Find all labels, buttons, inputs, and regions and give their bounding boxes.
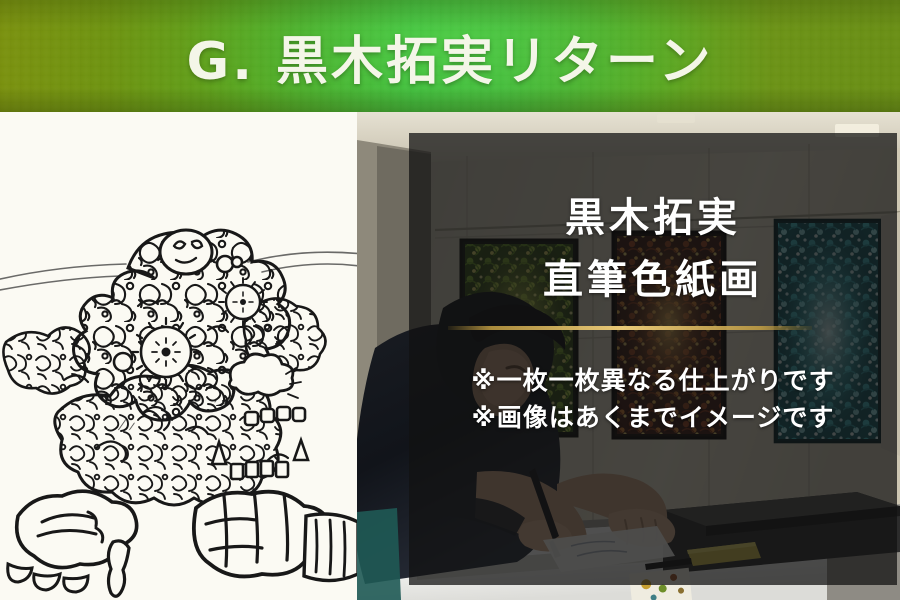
page-title: G. 黒木拓実リターン — [0, 0, 900, 112]
gallery-photo-panel: 黒木拓実 直筆色紙画 ※一枚一枚異なる仕上がりです ※画像はあくまでイメージです — [357, 112, 900, 600]
illustration-panel — [0, 112, 357, 600]
line-art-illustration — [0, 112, 357, 600]
overlay-text-block: 黒木拓実 直筆色紙画 ※一枚一枚異なる仕上がりです ※画像はあくまでイメージです — [409, 133, 897, 585]
overlay-item-name: 直筆色紙画 — [409, 247, 897, 305]
gold-divider — [448, 326, 812, 330]
header-banner: G. 黒木拓実リターン — [0, 0, 900, 112]
reward-banner-image: G. 黒木拓実リターン — [0, 0, 900, 600]
overlay-note-2: ※画像はあくまでイメージです — [409, 398, 897, 434]
overlay-artist-name: 黒木拓実 — [409, 185, 897, 243]
overlay-note-1: ※一枚一枚異なる仕上がりです — [409, 361, 897, 397]
